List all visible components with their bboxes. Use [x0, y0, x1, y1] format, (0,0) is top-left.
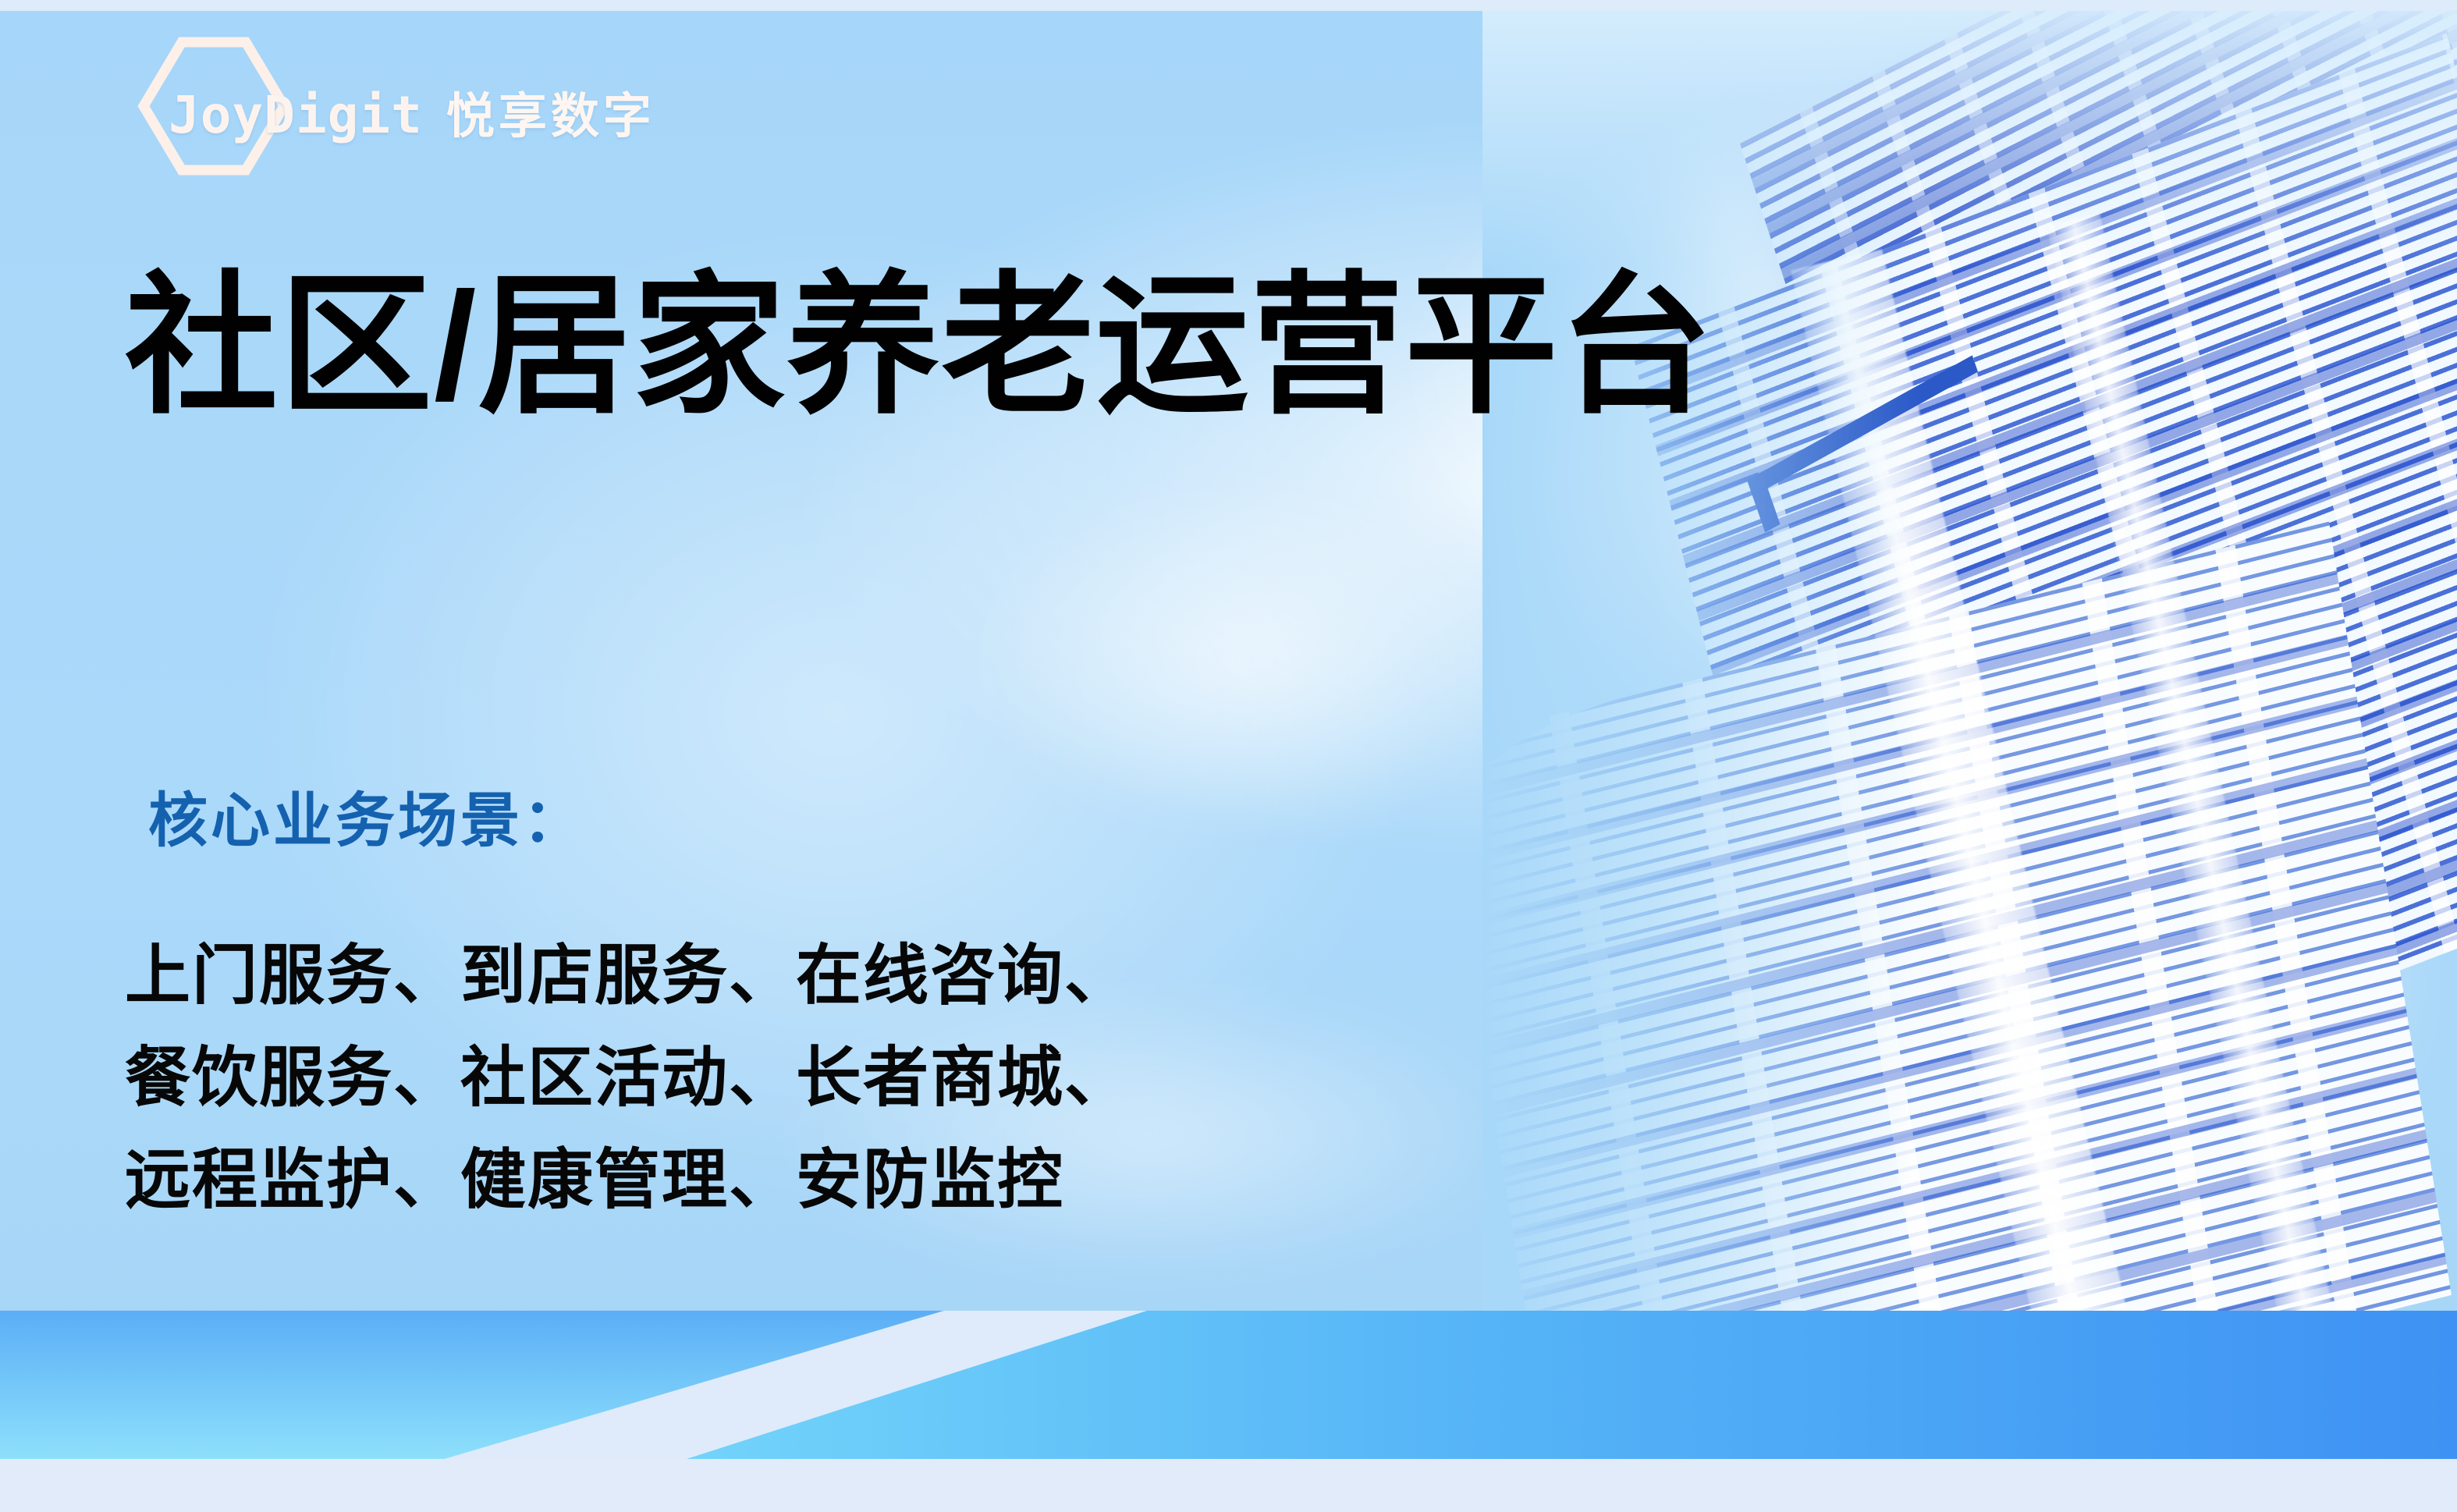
scene-list-line: 远程监护、健康管理、安防监控	[125, 1129, 1131, 1231]
content-layer: 社区/居家养老运营平台 核心业务场景： 上门服务、到店服务、在线咨询、 餐饮服务…	[0, 0, 2457, 1512]
page-title: 社区/居家养老运营平台	[125, 265, 1713, 428]
scene-list: 上门服务、到店服务、在线咨询、 餐饮服务、社区活动、长者商城、 远程监护、健康管…	[125, 925, 1131, 1231]
section-heading: 核心业务场景：	[148, 772, 585, 858]
brand-logo[interactable]: JoyDigit 悦享数字	[137, 69, 655, 154]
logo-wordmark: JoyDigit 悦享数字	[169, 76, 655, 147]
logo-text-cn: 悦享数字	[446, 76, 655, 147]
slide-root: JoyDigit 悦享数字 社区/居家养老运营平台 核心业务场景： 上门服务、到…	[0, 0, 2457, 1512]
scene-list-line: 餐饮服务、社区活动、长者商城、	[125, 1027, 1131, 1129]
scene-list-line: 上门服务、到店服务、在线咨询、	[125, 925, 1131, 1027]
logo-text-en: JoyDigit	[169, 85, 423, 145]
